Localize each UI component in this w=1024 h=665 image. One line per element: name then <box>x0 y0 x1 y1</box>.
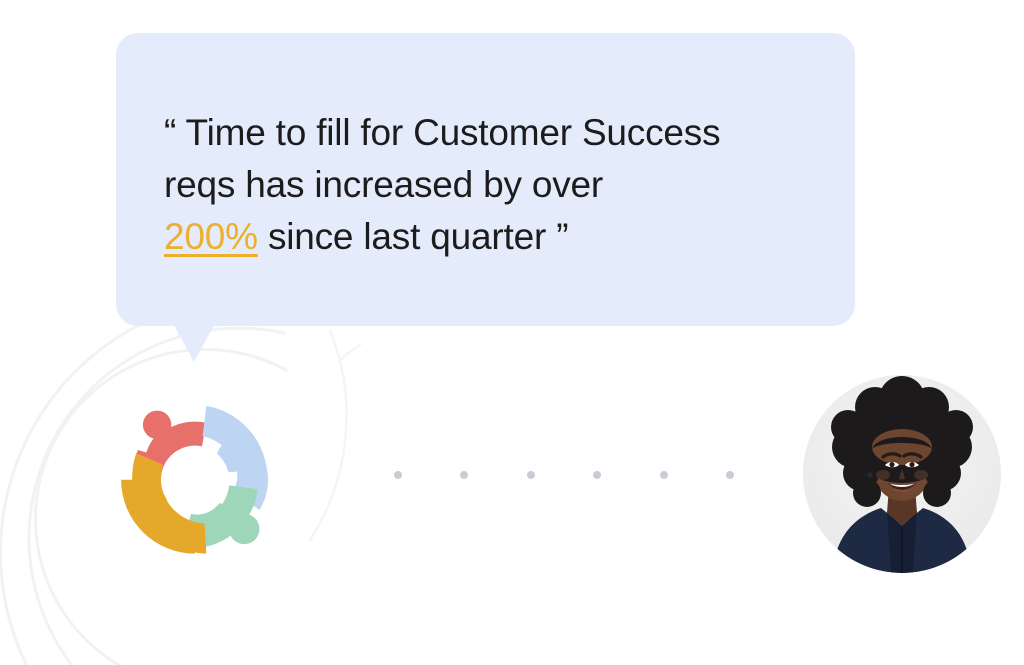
bubble-tail <box>174 325 214 362</box>
testimonial-quote: “ Time to fill for Customer Success reqs… <box>164 107 814 263</box>
quote-line-3-tail: since last quarter <box>268 216 546 257</box>
quote-line-1: Time to fill for Customer Success <box>186 112 721 153</box>
connector-dot <box>593 471 601 479</box>
speaker-avatar <box>803 375 1001 573</box>
close-quote-mark: ” <box>556 216 568 257</box>
connector-dot <box>527 471 535 479</box>
avatar-portrait <box>803 375 1001 573</box>
connector-dot <box>460 471 468 479</box>
circle-of-people-logo <box>100 385 290 565</box>
connector-dot <box>660 471 668 479</box>
testimonial-bubble: “ Time to fill for Customer Success reqs… <box>116 33 855 326</box>
open-quote-mark: “ <box>164 112 176 153</box>
quote-line-2: reqs has increased by over <box>164 164 603 205</box>
dotted-connector <box>394 470 734 480</box>
connector-dot <box>394 471 402 479</box>
stat-highlight: 200% <box>164 216 258 257</box>
connector-dot <box>726 471 734 479</box>
testimonial-scene: “ Time to fill for Customer Success reqs… <box>0 0 1024 665</box>
